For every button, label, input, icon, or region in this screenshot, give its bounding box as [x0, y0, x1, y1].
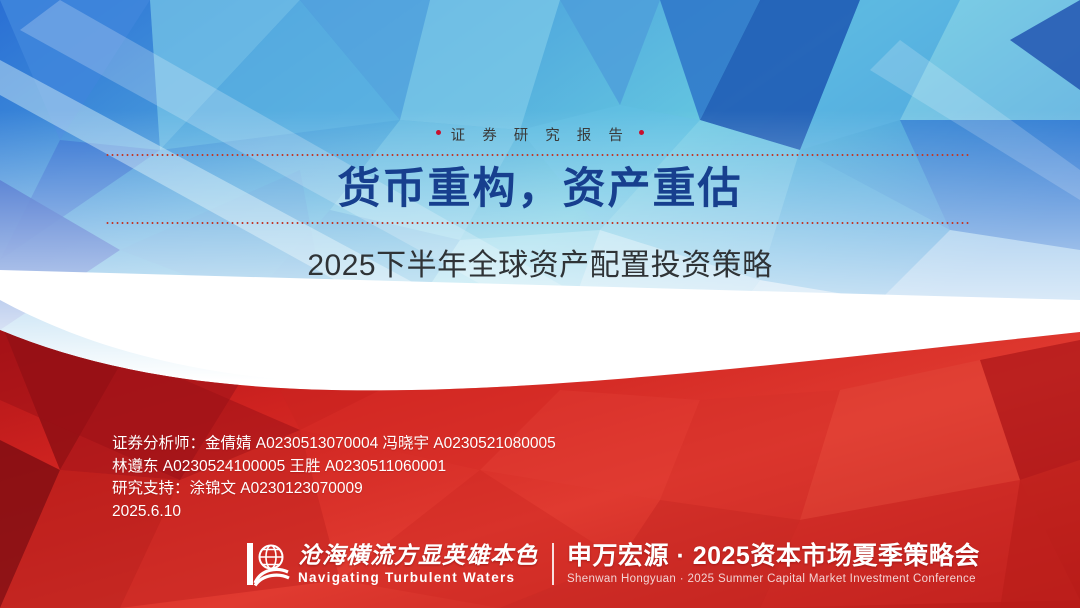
dotted-rule-top — [105, 154, 969, 156]
slogan-english: Navigating Turbulent Waters — [298, 569, 538, 587]
dotted-rule-bottom — [105, 222, 969, 224]
credit-line: 研究支持：涂锦文 A0230123070009 — [112, 478, 556, 501]
credit-line: 2025.6.10 — [112, 501, 556, 524]
slogan-block: 沧海横流方显英雄本色 Navigating Turbulent Waters — [298, 542, 550, 587]
conference-title-english: Shenwan Hongyuan · 2025 Summer Capital M… — [567, 571, 980, 587]
credit-line: 证券分析师：金倩婧 A0230513070004 冯晓宇 A0230521080… — [112, 433, 556, 456]
analyst-credits: 证券分析师：金倩婧 A0230513070004 冯晓宇 A0230521080… — [112, 433, 556, 523]
credit-line: 林遵东 A0230524100005 王胜 A0230511060001 — [112, 456, 556, 479]
eyebrow-label: 证 券 研 究 报 告 — [0, 124, 1080, 145]
conference-block: 申万宏源 · 2025资本市场夏季策略会 Shenwan Hongyuan · … — [567, 542, 980, 587]
bullet-dot-right-icon — [639, 130, 644, 135]
eyebrow-text: 证 券 研 究 报 告 — [451, 124, 630, 145]
footer-divider — [552, 543, 554, 585]
presentation-cover-slide: 证 券 研 究 报 告 货币重构，资产重估 2025下半年全球资产配置投资策略 … — [0, 0, 1080, 608]
page-title: 货币重构，资产重估 — [0, 163, 1080, 215]
slogan-chinese: 沧海横流方显英雄本色 — [298, 542, 538, 569]
shenwan-hongyuan-globe-logo-icon — [246, 541, 292, 587]
page-subtitle: 2025下半年全球资产配置投资策略 — [0, 240, 1080, 284]
bullet-dot-left-icon — [436, 130, 441, 135]
footer-brand-bar: 沧海横流方显英雄本色 Navigating Turbulent Waters 申… — [246, 536, 980, 592]
conference-title-chinese: 申万宏源 · 2025资本市场夏季策略会 — [567, 542, 980, 571]
